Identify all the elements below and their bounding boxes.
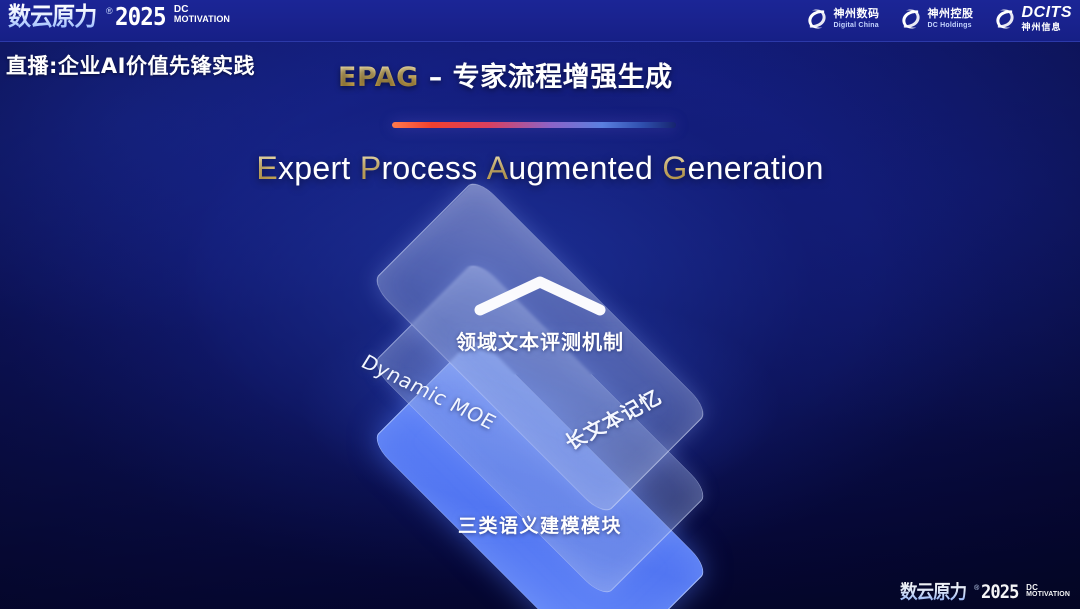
- watermark-registered-mark-icon: ®: [974, 584, 979, 593]
- registered-mark-icon: ®: [106, 5, 113, 17]
- page-title: EPAG – 专家流程增强生成: [338, 55, 673, 94]
- expansion-rest-process: rocess: [381, 150, 477, 186]
- watermark-name-cn: 数云原力: [900, 582, 966, 603]
- title-chinese: 专家流程增强生成: [453, 62, 673, 93]
- partner-label: 神州控股 DC Holdings: [928, 9, 974, 29]
- diagram-label-top: 领域文本评测机制: [456, 326, 624, 355]
- partner-name-en: Digital China: [834, 22, 880, 29]
- watermark-dc-line1: DC: [1026, 584, 1070, 591]
- title-abbreviation: EPAG: [338, 62, 419, 93]
- expansion-initial-p: P: [360, 150, 382, 186]
- expansion-space-1: [351, 150, 360, 186]
- watermark-dc-line2: MOTIVATION: [1026, 591, 1070, 599]
- layered-architecture-diagram: 领域文本评测机制 Dynamic MOE 长文本记忆 三类语义建模模块: [268, 228, 812, 568]
- spiral-logo-icon: [804, 6, 830, 32]
- partner-logo-dcits: DCITS 神州信息: [992, 5, 1073, 32]
- partner-name-cn: 神州控股: [928, 9, 974, 20]
- partner-name-en: DCITS: [1022, 5, 1073, 21]
- brand-dc-motivation: DC MOTIVATION: [174, 5, 230, 24]
- brand-logo: 数云原力 ® 2025 DC MOTIVATION: [8, 3, 230, 31]
- watermark-year: 2025: [981, 582, 1019, 603]
- expansion-initial-a: A: [487, 150, 509, 186]
- live-stream-tag: 直播:企业AI价值先锋实践: [6, 50, 255, 80]
- brand-year: 2025: [115, 3, 166, 31]
- spiral-logo-icon: [898, 6, 924, 32]
- expansion-rest-augmented: ugmented: [508, 150, 653, 186]
- partner-name-cn: 神州数码: [834, 9, 880, 20]
- partner-logo-dc-holdings: 神州控股 DC Holdings: [898, 6, 974, 32]
- expansion-rest-generation: eneration: [688, 150, 824, 186]
- expansion-initial-e: E: [256, 150, 278, 186]
- partner-logo-digital-china: 神州数码 Digital China: [804, 6, 880, 32]
- partner-label: 神州数码 Digital China: [834, 9, 880, 29]
- brand-dc-line1: DC: [174, 5, 230, 14]
- brand-dc-line2: MOTIVATION: [174, 14, 230, 24]
- partner-label: DCITS 神州信息: [1022, 5, 1073, 32]
- expansion-space-2: [478, 150, 487, 186]
- title-dash: –: [419, 62, 453, 93]
- expansion-initial-g: G: [662, 150, 687, 186]
- brand-watermark: 数云原力 ® 2025 DC MOTIVATION: [900, 582, 1070, 603]
- expansion-space-3: [653, 150, 662, 186]
- brand-name-cn: 数云原力: [8, 3, 96, 31]
- partner-logo-group: 神州数码 Digital China 神州控股 DC Holdings: [804, 5, 1073, 32]
- top-banner: 数云原力 ® 2025 DC MOTIVATION 神州数码 Digital C…: [0, 0, 1080, 42]
- acronym-expansion: Expert Process Augmented Generation: [0, 150, 1080, 187]
- chevron-up-icon: [470, 272, 610, 318]
- partner-name-en: DC Holdings: [928, 22, 974, 29]
- slide-canvas: 数云原力 ® 2025 DC MOTIVATION 神州数码 Digital C…: [0, 0, 1080, 609]
- diagram-label-bottom: 三类语义建模模块: [458, 511, 622, 538]
- spiral-logo-icon: [992, 6, 1018, 32]
- accent-gradient-rule: [392, 122, 676, 128]
- expansion-rest-expert: xpert: [278, 150, 351, 186]
- partner-name-cn: 神州信息: [1022, 23, 1073, 32]
- watermark-dc-motivation: DC MOTIVATION: [1026, 584, 1070, 599]
